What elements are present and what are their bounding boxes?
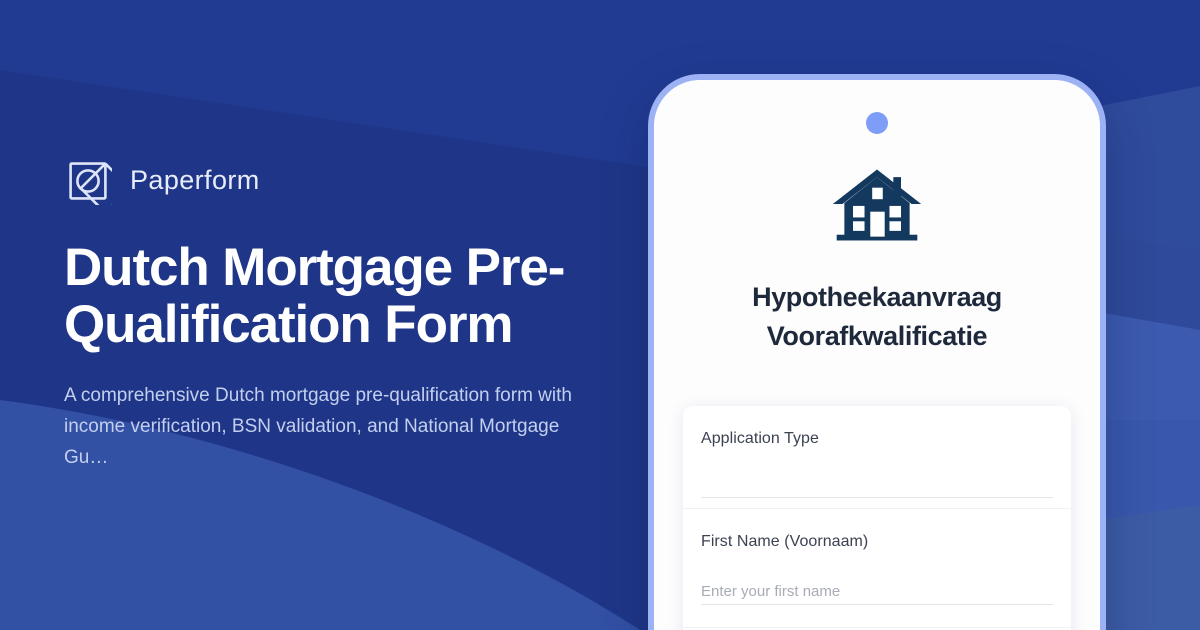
application-type-select[interactable] bbox=[701, 484, 1053, 498]
form-title: Hypotheekaanvraag Voorafkwalificatie bbox=[712, 278, 1042, 355]
brand-lockup: Paperform bbox=[64, 157, 624, 205]
house-icon bbox=[829, 156, 925, 252]
first-name-input[interactable]: Enter your first name bbox=[701, 579, 1053, 605]
field-label: First Name (Voornaam) bbox=[701, 533, 1053, 551]
paperform-star-logo-icon bbox=[64, 157, 112, 205]
camera-dot-icon bbox=[866, 112, 888, 134]
form-card: Application Type First Name (Voornaam) E… bbox=[683, 406, 1071, 630]
hero-panel: Paperform Dutch Mortgage Pre-Qualificati… bbox=[64, 0, 624, 630]
paperform-star-logo-svg bbox=[64, 157, 112, 205]
form-header: Hypotheekaanvraag Voorafkwalificatie bbox=[654, 156, 1100, 355]
phone-mockup: Hypotheekaanvraag Voorafkwalificatie App… bbox=[648, 74, 1106, 630]
field-label: Application Type bbox=[701, 430, 1053, 448]
brand-name: Paperform bbox=[130, 165, 260, 196]
form-field-first-name[interactable]: First Name (Voornaam) Enter your first n… bbox=[683, 509, 1071, 628]
phone-screen: Hypotheekaanvraag Voorafkwalificatie App… bbox=[654, 80, 1100, 630]
social-card-canvas: Paperform Dutch Mortgage Pre-Qualificati… bbox=[0, 0, 1200, 630]
page-description: A comprehensive Dutch mortgage pre-quali… bbox=[64, 381, 579, 473]
form-field-application-type[interactable]: Application Type bbox=[683, 406, 1071, 509]
house-icon-svg bbox=[829, 156, 925, 252]
background-facet-right-corner bbox=[1100, 505, 1200, 630]
page-title: Dutch Mortgage Pre-Qualification Form bbox=[64, 239, 584, 353]
